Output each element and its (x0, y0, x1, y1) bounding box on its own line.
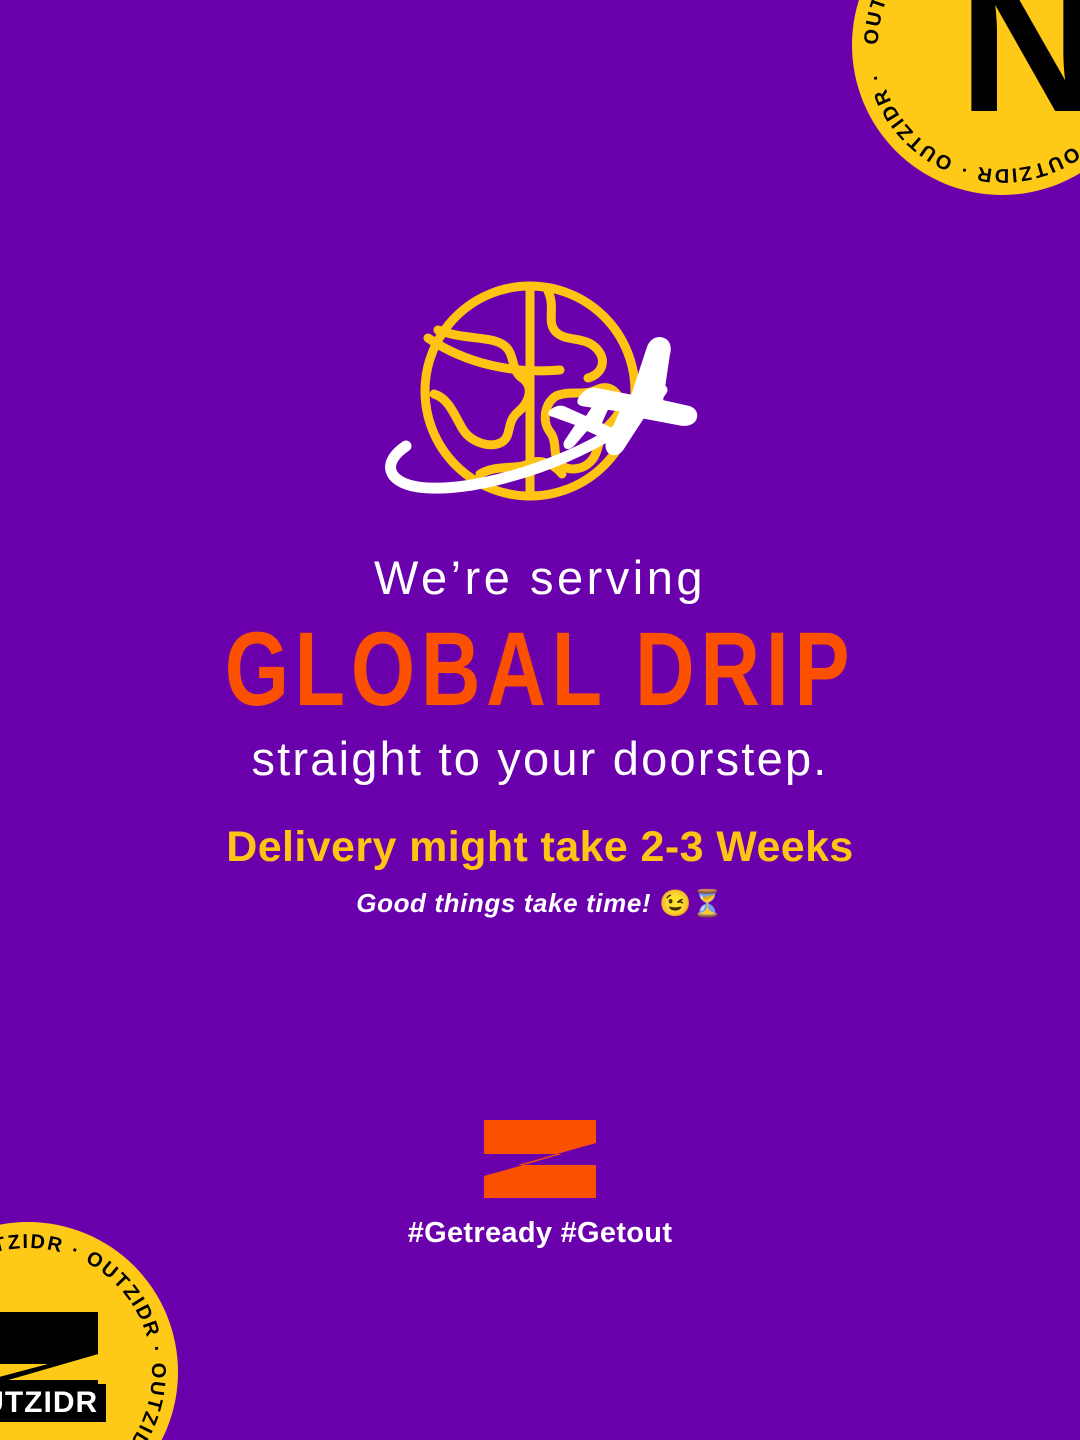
seal-letter-top-right: N (958, 0, 1080, 129)
outzidr-seal-bottom-left: OUTZIDR · OUTZIDR · OUTZIDR · OUTZIDR · … (0, 1222, 178, 1440)
outzidr-z-mark-black: OUTZIDR (0, 1288, 112, 1440)
seal-core-top-right: N (918, 0, 1080, 129)
promo-poster: OUTZIDR · OUTZIDR · OUTZIDR · OUTZIDR · … (0, 0, 1080, 1440)
seal-z-top-stroke (0, 1312, 98, 1380)
delivery-subtext-words: Good things take time! (356, 888, 651, 918)
z-glyph (484, 1120, 596, 1198)
wink-hourglass-emoji: 😉⏳ (659, 888, 724, 918)
footer-hashtags: #Getready #Getout (0, 1217, 1080, 1250)
outzidr-z-logo-svg (478, 1120, 602, 1198)
outzidr-z-logo (478, 1120, 602, 1198)
headline-line-serving: We’re serving (0, 552, 1080, 605)
footer-block: #Getready #Getout (0, 1120, 1080, 1250)
delivery-notice-block: Delivery might take 2-3 Weeks Good thing… (0, 822, 1080, 919)
delivery-timeframe-text: Delivery might take 2-3 Weeks (0, 822, 1080, 874)
headline-line-doorstep: straight to your doorstep. (0, 733, 1080, 786)
headline-block: We’re serving GLOBAL DRIP straight to yo… (0, 552, 1080, 786)
seal-wordmark-text: OUTZIDR (0, 1386, 98, 1419)
globe-airplane-illustration (0, 278, 1080, 508)
outzidr-n-mark: N (918, 0, 1080, 129)
outzidr-seal-top-right: OUTZIDR · OUTZIDR · OUTZIDR · OUTZIDR · … (852, 0, 1080, 195)
headline-line-global-drip: GLOBAL DRIP (22, 611, 1059, 729)
globe-airplane-svg (370, 278, 710, 508)
seal-core-bottom-left: OUTZIDR (0, 1288, 112, 1440)
delivery-subtext: Good things take time! 😉⏳ (0, 888, 1080, 919)
